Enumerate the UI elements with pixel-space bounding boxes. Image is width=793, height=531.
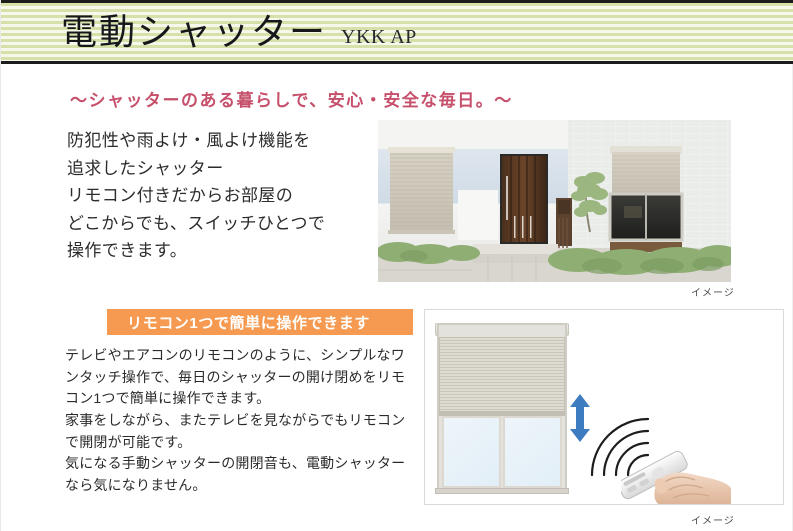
section-banner-remote: リモコン1つで簡単に操作できます: [107, 309, 413, 335]
lead-line-1: 防犯性や雨よけ・風よけ機能を: [67, 127, 367, 155]
body-paragraph-3: 気になる手動シャッターの開閉音も、電動シャッターなら気になりません。: [65, 453, 410, 496]
lead-line-3: リモコン付きだからお部屋の: [67, 182, 367, 210]
glass-pane-right: [503, 416, 562, 488]
brand-name: YKK AP: [341, 26, 417, 49]
header-title-group: 電動シャッター YKK AP: [61, 3, 417, 61]
page-title: 電動シャッター: [61, 14, 327, 50]
lead-line-2: 追求したシャッター: [67, 155, 367, 183]
rolling-shutter-slats: [439, 337, 565, 413]
lead-line-5: 操作できます。: [67, 237, 367, 265]
glass-pane-left: [442, 416, 501, 488]
page-root: 電動シャッター YKK AP 〜シャッターのある暮らしで、安心・安全な毎日。〜 …: [0, 0, 793, 531]
top-photo-caption: イメージ: [691, 284, 735, 299]
section-banner-label: リモコン1つで簡単に操作できます: [127, 312, 370, 333]
lead-paragraph: 防犯性や雨よけ・風よけ機能を 追求したシャッター リモコン付きだからお部屋の ど…: [67, 127, 367, 265]
house-exterior-photo: [378, 120, 731, 282]
lead-line-4: どこからでも、スイッチひとつで: [67, 210, 367, 238]
body-paragraph-1: テレビやエアコンのリモコンのように、シンプルなワンタッチ操作で、毎日のシャッター…: [65, 345, 410, 410]
body-copy: テレビやエアコンのリモコンのように、シンプルなワンタッチ操作で、毎日のシャッター…: [65, 345, 410, 497]
page-header: 電動シャッター YKK AP: [1, 0, 793, 64]
bottom-photo-caption: イメージ: [691, 512, 735, 527]
tagline: 〜シャッターのある暮らしで、安心・安全な毎日。〜: [70, 86, 513, 111]
remote-operation-illustration: [424, 309, 784, 505]
window-sill: [435, 488, 569, 494]
window-glass-panes: [441, 416, 563, 488]
body-paragraph-2: 家事をしながら、またテレビを見ながらでもリモコンで開閉が可能です。: [65, 410, 410, 453]
hand-holding-remote-icon: [621, 450, 731, 505]
